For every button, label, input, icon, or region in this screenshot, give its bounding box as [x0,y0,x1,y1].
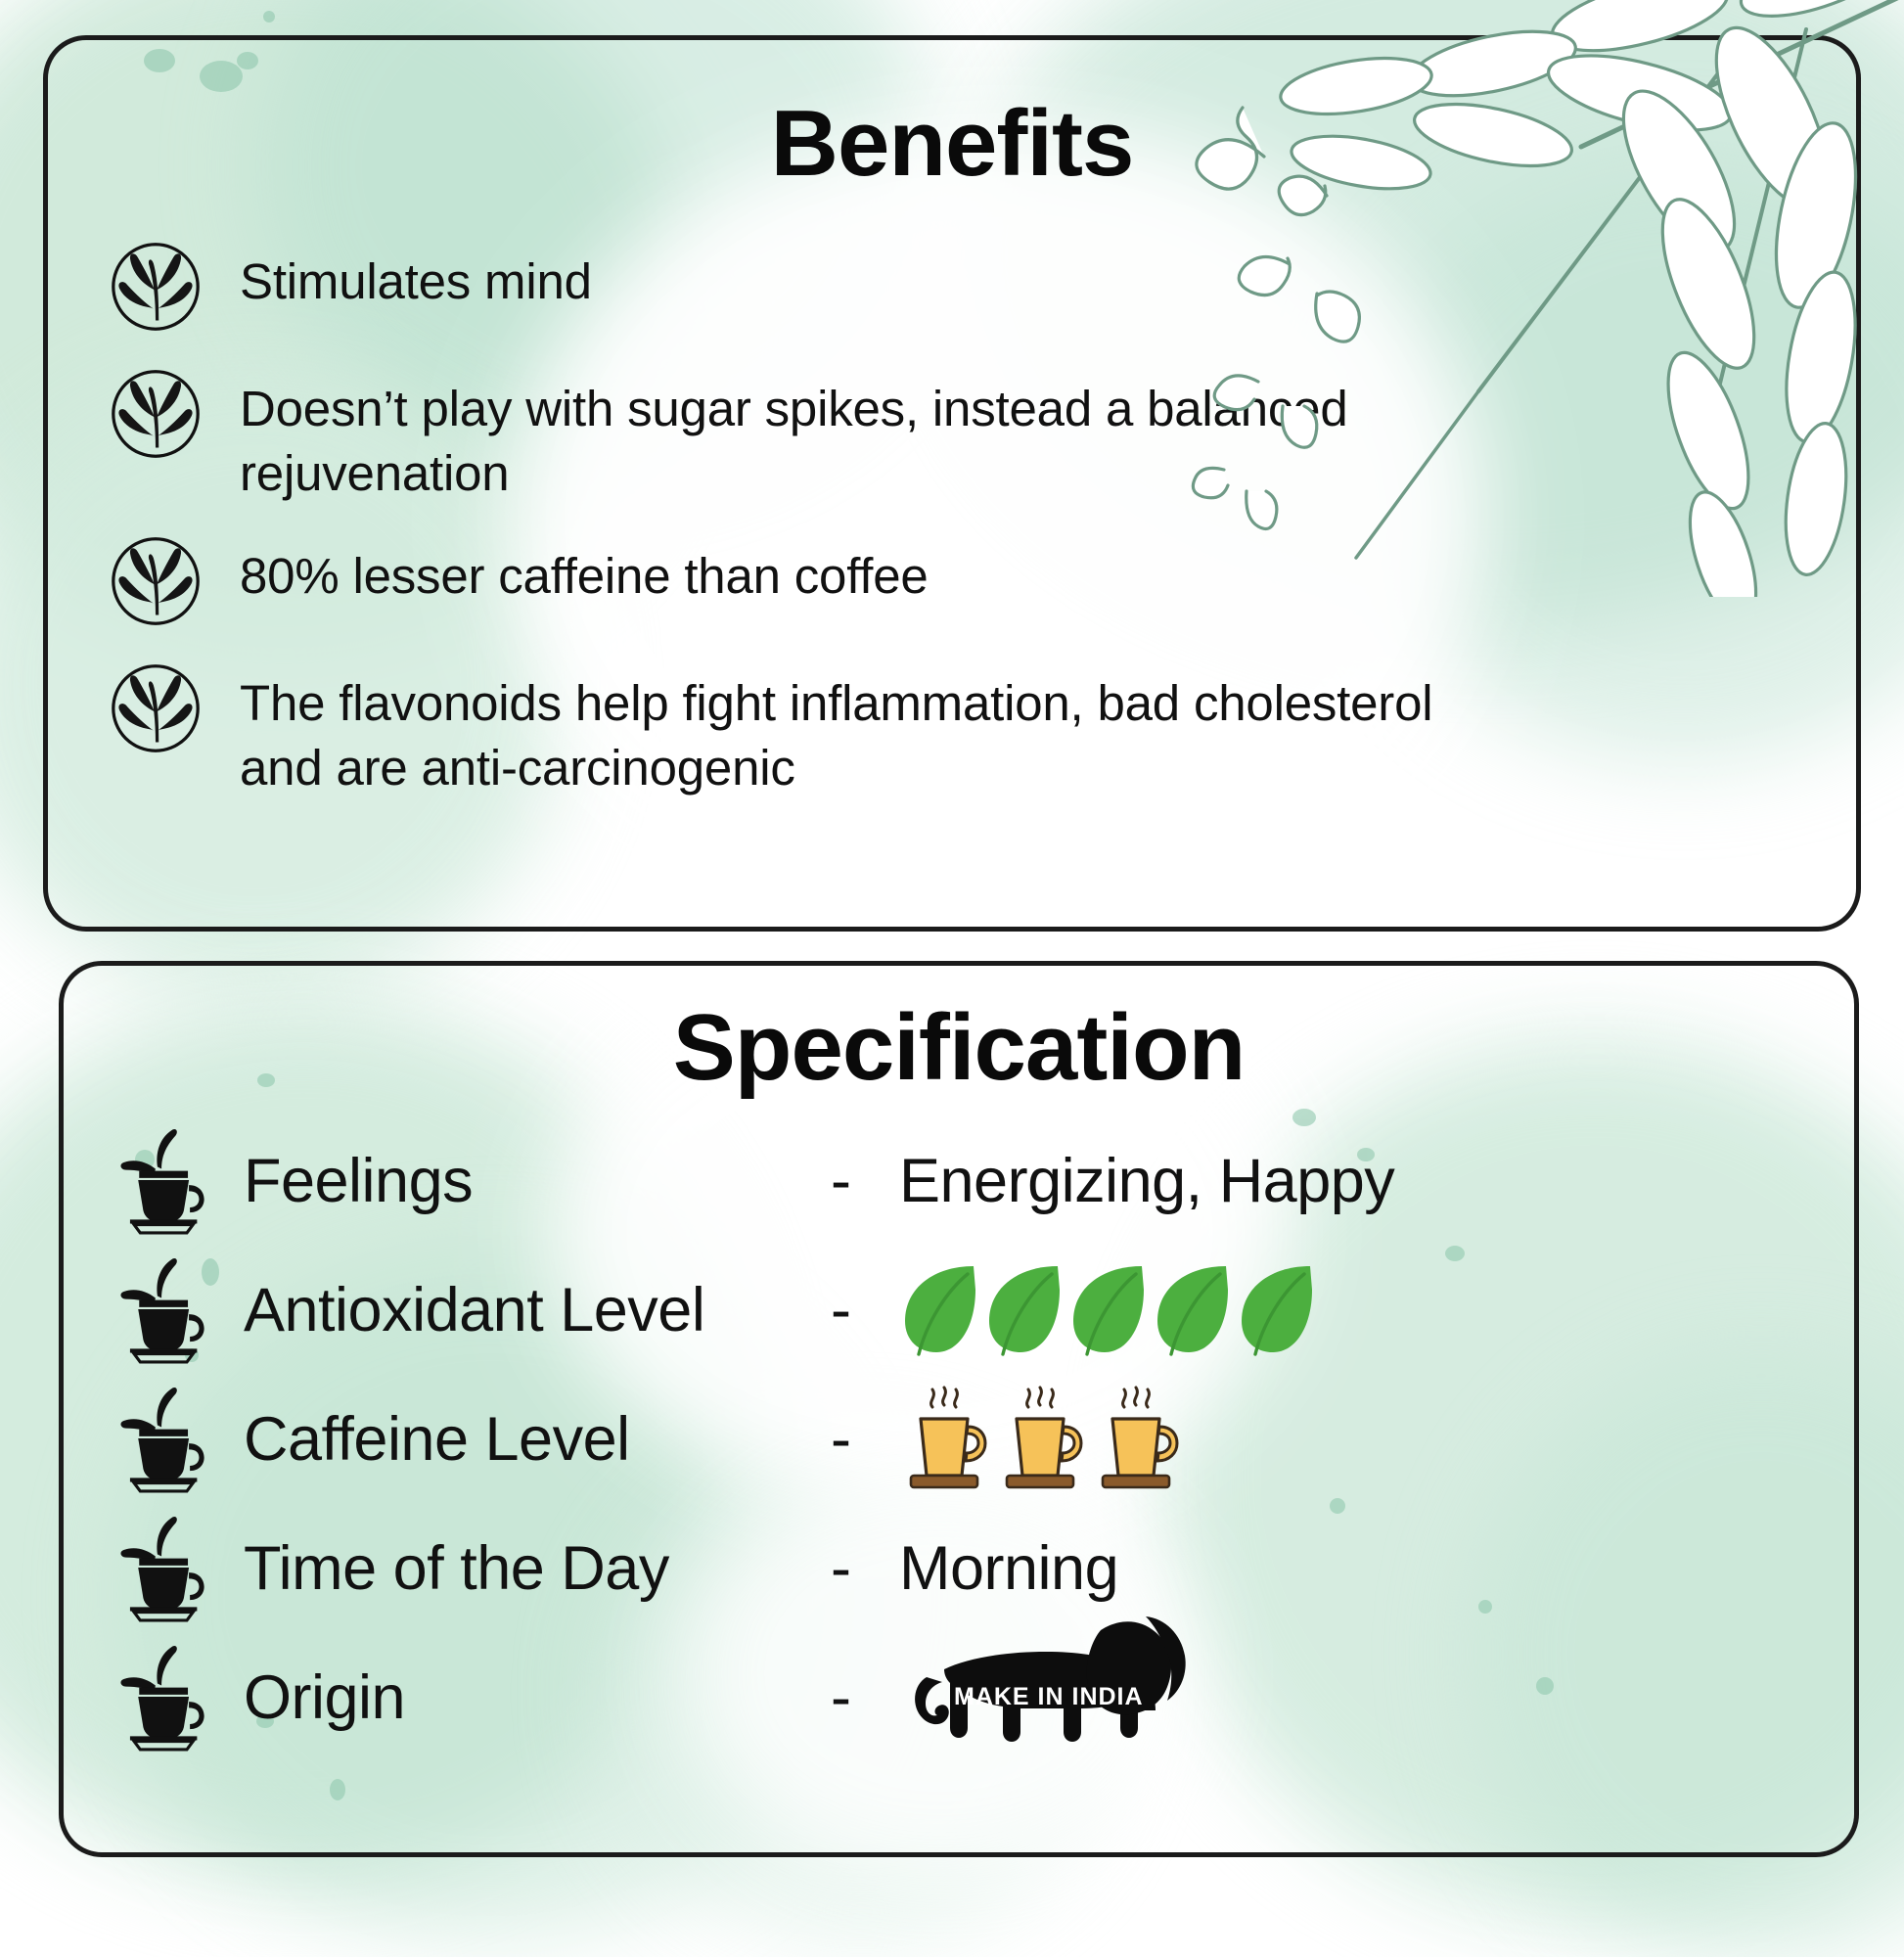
benefit-text: The flavonoids help fight inflammation, … [240,656,1512,801]
benefits-card: Benefits Stimulates mind [43,35,1861,932]
teacup-with-leaves-icon [109,1514,210,1623]
tea-leaf-circle-icon [103,234,208,340]
green-leaf-icon [1152,1260,1232,1360]
benefit-text: Stimulates mind [240,234,592,314]
spec-label: Time of the Day [244,1533,831,1604]
benefit-item: Doesn’t play with sugar spikes, instead … [103,361,1793,507]
spec-value-time-of-day: Morning [899,1533,1118,1604]
spec-value-antioxidant-rating [899,1260,1316,1360]
spec-separator: - [831,1146,899,1216]
make-in-india-lion-logo: MAKE IN INDIA [899,1613,1193,1769]
green-leaf-icon [983,1260,1064,1360]
spec-separator: - [831,1275,899,1345]
spec-separator: - [831,1662,899,1733]
coffee-cup-icon [1091,1382,1181,1497]
tea-leaf-circle-icon [103,656,208,761]
benefit-text: Doesn’t play with sugar spikes, instead … [240,361,1443,507]
teacup-with-leaves-icon [109,1385,210,1494]
specification-card: Specification Feelings - Energizing, Hap… [59,961,1859,1857]
specification-title: Specification [64,1001,1854,1095]
spec-label: Origin [244,1662,831,1733]
benefit-item: 80% lesser caffeine than coffee [103,528,1793,634]
teacup-with-leaves-icon [109,1255,210,1365]
spec-row-origin: Origin - MAKE IN INDIA [109,1633,1854,1762]
spec-row-caffeine-level: Caffeine Level - [109,1375,1854,1504]
green-leaf-icon [1236,1260,1316,1360]
specification-list: Feelings - Energizing, Happy Antioxidant… [64,1116,1854,1762]
spec-value-feelings: Energizing, Happy [899,1146,1394,1216]
benefit-text: 80% lesser caffeine than coffee [240,528,929,609]
spec-value-caffeine-rating [899,1382,1181,1497]
spec-separator: - [831,1404,899,1475]
tea-leaf-circle-icon [103,361,208,467]
tea-leaf-circle-icon [103,528,208,634]
spec-label: Feelings [244,1146,831,1216]
spec-label: Antioxidant Level [244,1275,831,1345]
make-in-india-wordmark: MAKE IN INDIA [954,1683,1144,1710]
spec-label: Caffeine Level [244,1404,831,1475]
spec-row-antioxidant-level: Antioxidant Level - [109,1246,1854,1375]
benefit-item: The flavonoids help fight inflammation, … [103,656,1793,801]
benefits-title: Benefits [48,97,1856,191]
teacup-with-leaves-icon [109,1126,210,1236]
coffee-cup-icon [995,1382,1085,1497]
coffee-cup-icon [899,1382,989,1497]
teacup-with-leaves-icon [109,1643,210,1752]
spec-separator: - [831,1533,899,1604]
benefit-item: Stimulates mind [103,234,1793,340]
spec-row-feelings: Feelings - Energizing, Happy [109,1116,1854,1246]
green-leaf-icon [1067,1260,1148,1360]
spec-value-origin: MAKE IN INDIA [899,1613,1193,1784]
benefits-list: Stimulates mind Doesn’t play with sugar … [48,234,1856,800]
green-leaf-icon [899,1260,979,1360]
